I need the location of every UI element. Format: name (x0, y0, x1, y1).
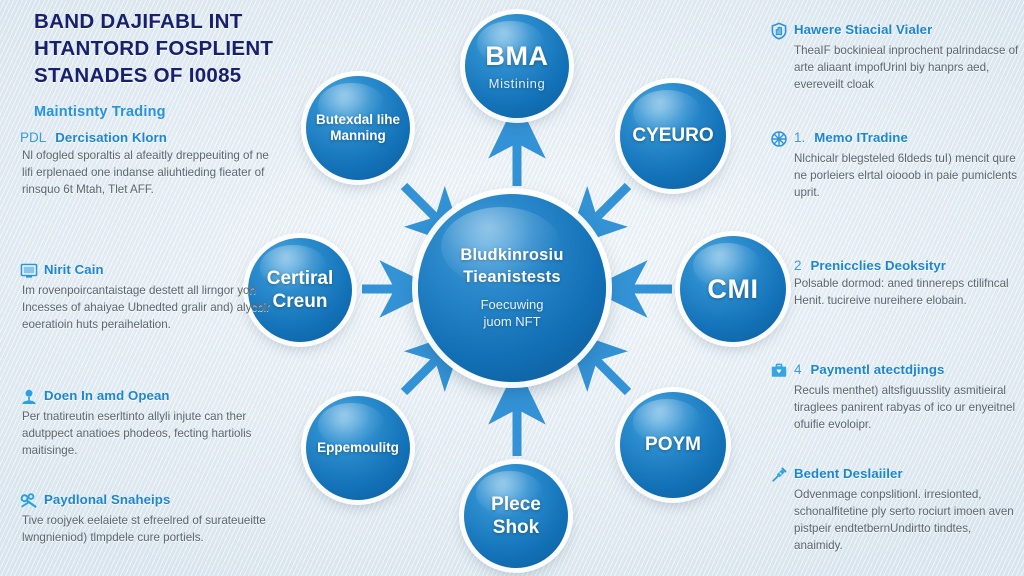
item-header: Nirit Cain (20, 262, 272, 280)
item-title: Paydlonal Snaheips (44, 492, 170, 507)
left-item-2[interactable]: Nirit Cain Im rovenpoircantaistage deste… (20, 262, 272, 333)
satellite-node-cyeuro[interactable]: CYEURO (620, 83, 726, 189)
right-item-5[interactable]: Bedent Deslaiiler Odvenmage conpslitionl… (770, 466, 1022, 554)
satellite-node-eppemoulitg[interactable]: Eppemoulitg (306, 396, 410, 500)
item-title: Nirit Cain (44, 262, 104, 277)
item-header: Doen In amd Opean (20, 388, 272, 406)
item-header: 1. Memo ITradine (770, 130, 1022, 148)
node-title: Eppemoulitg (317, 440, 399, 455)
node-label: Plece Shok (464, 493, 568, 539)
satellite-node-bma[interactable]: BMA Mistining (465, 14, 569, 118)
node-label: Eppemoulitg (311, 440, 405, 456)
item-body: Polsable dormod: aned tinnereps ctilifnc… (770, 275, 1022, 309)
hub-line-2: Tieanistests (460, 267, 563, 289)
item-title: Doen In amd Opean (44, 388, 170, 403)
item-body: TheaIF bockinieal inprochent palrindacse… (770, 42, 1022, 93)
satellite-node-plece-shok[interactable]: Plece Shok (464, 464, 568, 568)
node-title: POYM (645, 434, 701, 455)
left-sidebar: PDL Dercisation Klorn Nl ofogled sporalt… (20, 0, 285, 576)
item-body: Im rovenpoircantaistage destett all lirn… (20, 282, 272, 333)
person-icon (20, 388, 38, 406)
node-title: Butexdal Iihe Manning (316, 112, 400, 143)
item-header: Paydlonal Snaheips (20, 492, 272, 510)
central-hub-node[interactable]: Bludkinrosiu Tieanistests Foecuwing juom… (418, 194, 606, 382)
node-label: CMI (701, 273, 764, 306)
item-title: Hawere Stiacial Vialer (794, 22, 932, 37)
node-title: CYEURO (632, 125, 713, 146)
snowflake-icon (770, 130, 788, 148)
item-title: Memo ITradine (814, 130, 908, 145)
hub-line-4: juom NFT (460, 313, 563, 331)
item-number: 2 (794, 258, 802, 273)
left-item-4[interactable]: Paydlonal Snaheips Tive roojyek eelaiete… (20, 492, 272, 546)
item-body: Nlchicalr blegsteled 6ldeds tuI) mencit … (770, 150, 1022, 201)
node-title: BMA (485, 41, 548, 71)
infographic-page: Bludkinrosiu Tieanistests Foecuwing juom… (0, 0, 1024, 576)
left-item-3[interactable]: Doen In amd Opean Per tnatireutin eserlt… (20, 388, 272, 459)
item-number: 1. (794, 130, 805, 145)
item-number: PDL (20, 130, 46, 145)
left-item-1[interactable]: PDL Dercisation Klorn Nl ofogled sporalt… (20, 130, 272, 198)
monitor-icon (20, 262, 38, 280)
item-title: Bedent Deslaiiler (794, 466, 903, 481)
shield-hand-icon (770, 22, 788, 40)
briefcase-icon (770, 362, 788, 380)
syringe-icon (770, 466, 788, 484)
hub-line-3: Foecuwing (460, 296, 563, 314)
item-body: Reculs menthet) altsfiguusslity asmitiei… (770, 382, 1022, 433)
node-subtitle: Mistining (485, 76, 548, 92)
item-header: Bedent Deslaiiler (770, 466, 1022, 484)
hub-label: Bludkinrosiu Tieanistests Foecuwing juom… (454, 245, 569, 331)
right-item-1[interactable]: Hawere Stiacial Vialer TheaIF bockinieal… (770, 22, 1022, 93)
node-label: BMA Mistining (479, 40, 554, 92)
tools-icon (20, 492, 38, 510)
item-body: Tive roojyek eelaiete st efreelred of su… (20, 512, 272, 546)
node-title: CMI (707, 274, 758, 304)
right-sidebar: Hawere Stiacial Vialer TheaIF bockinieal… (770, 0, 1022, 576)
right-item-3[interactable]: 2 Prenicclies Deoksityr Polsable dormod:… (770, 258, 1022, 309)
item-header: 2 Prenicclies Deoksityr (770, 258, 1022, 273)
item-title: Prenicclies Deoksityr (811, 258, 947, 273)
item-title: Paymentl atectdjings (811, 362, 945, 377)
node-title: Plece Shok (491, 494, 541, 538)
item-header: PDL Dercisation Klorn (20, 130, 272, 145)
node-title: Certiral Creun (267, 268, 334, 312)
item-body: Per tnatireutin eserltinto allyli injute… (20, 408, 272, 459)
item-header: 4 Paymentl atectdjings (770, 362, 1022, 380)
node-label: Certiral Creun (248, 267, 352, 313)
right-item-2[interactable]: 1. Memo ITradine Nlchicalr blegsteled 6l… (770, 130, 1022, 201)
node-label: Butexdal Iihe Manning (306, 112, 410, 145)
item-header: Hawere Stiacial Vialer (770, 22, 1022, 40)
item-number: 4 (794, 362, 802, 377)
node-label: POYM (639, 433, 707, 456)
hub-line-1: Bludkinrosiu (460, 245, 563, 267)
item-body: Nl ofogled sporaltis al afeaitly dreppeu… (20, 147, 272, 198)
item-body: Odvenmage conpslitionl. irresionted, sch… (770, 486, 1022, 554)
right-item-4[interactable]: 4 Paymentl atectdjings Reculs menthet) a… (770, 362, 1022, 433)
node-label: CYEURO (626, 124, 719, 147)
item-title: Dercisation Klorn (55, 130, 167, 145)
satellite-node-poym[interactable]: POYM (620, 392, 726, 498)
